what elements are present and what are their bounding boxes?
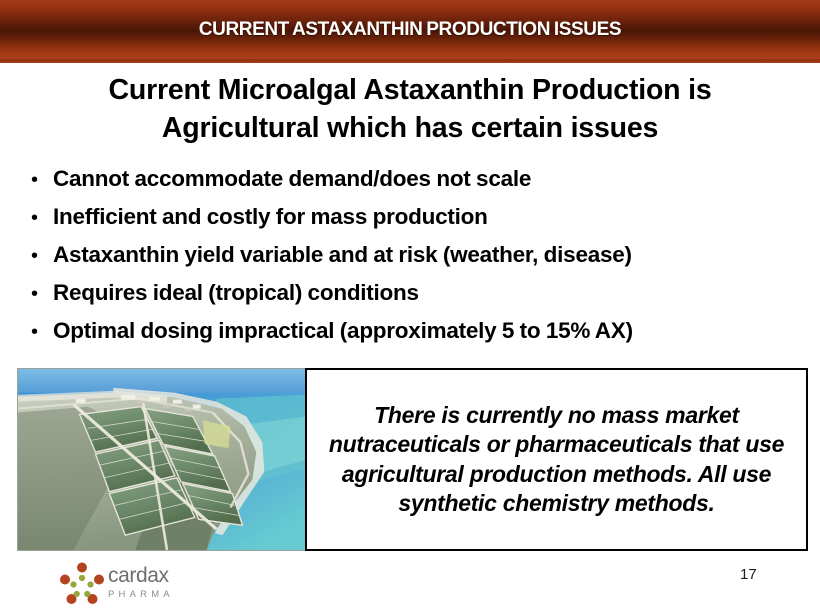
slide: CURRENT ASTAXANTHIN PRODUCTION ISSUES Cu… [0, 0, 820, 615]
list-item: • Cannot accommodate demand/does not sca… [24, 166, 814, 204]
bullet-dot-icon: • [24, 246, 53, 266]
list-item-label: Cannot accommodate demand/does not scale [53, 166, 531, 192]
callout-text: There is currently no mass market nutrac… [307, 401, 806, 518]
list-item-label: Inefficient and costly for mass producti… [53, 204, 488, 230]
bullet-dot-icon: • [24, 170, 53, 190]
bullet-dot-icon: • [24, 208, 53, 228]
cardax-logo-icon [60, 561, 104, 605]
list-item: • Requires ideal (tropical) conditions [24, 280, 814, 318]
cardax-logo-name: cardax [108, 565, 248, 586]
list-item-label: Optimal dosing impractical (approximatel… [53, 318, 633, 344]
page-title-line-2: Agricultural which has certain issues [30, 110, 790, 148]
page-number: 17 [740, 566, 757, 583]
list-item-label: Requires ideal (tropical) conditions [53, 280, 419, 306]
header-banner-title: CURRENT ASTAXANTHIN PRODUCTION ISSUES [0, 0, 820, 59]
list-item: • Astaxanthin yield variable and at risk… [24, 242, 814, 280]
bullet-dot-icon: • [24, 284, 53, 304]
cardax-wordmark: cardax PHARMA [108, 565, 248, 600]
bullet-list: • Cannot accommodate demand/does not sca… [24, 166, 814, 356]
cardax-logo: cardax PHARMA [60, 561, 250, 607]
header-underline [0, 59, 820, 63]
bullet-dot-icon: • [24, 322, 53, 342]
algae-farm-photo-graphic [18, 369, 306, 550]
list-item-label: Astaxanthin yield variable and at risk (… [53, 242, 632, 268]
callout-textbox: There is currently no mass market nutrac… [305, 368, 808, 551]
algae-farm-photo [17, 368, 307, 551]
list-item: • Optimal dosing impractical (approximat… [24, 318, 814, 356]
cardax-logo-subtitle: PHARMA [108, 589, 248, 600]
list-item: • Inefficient and costly for mass produc… [24, 204, 814, 242]
page-title-line-1: Current Microalgal Astaxanthin Productio… [30, 72, 790, 110]
page-title: Current Microalgal Astaxanthin Productio… [30, 72, 790, 148]
